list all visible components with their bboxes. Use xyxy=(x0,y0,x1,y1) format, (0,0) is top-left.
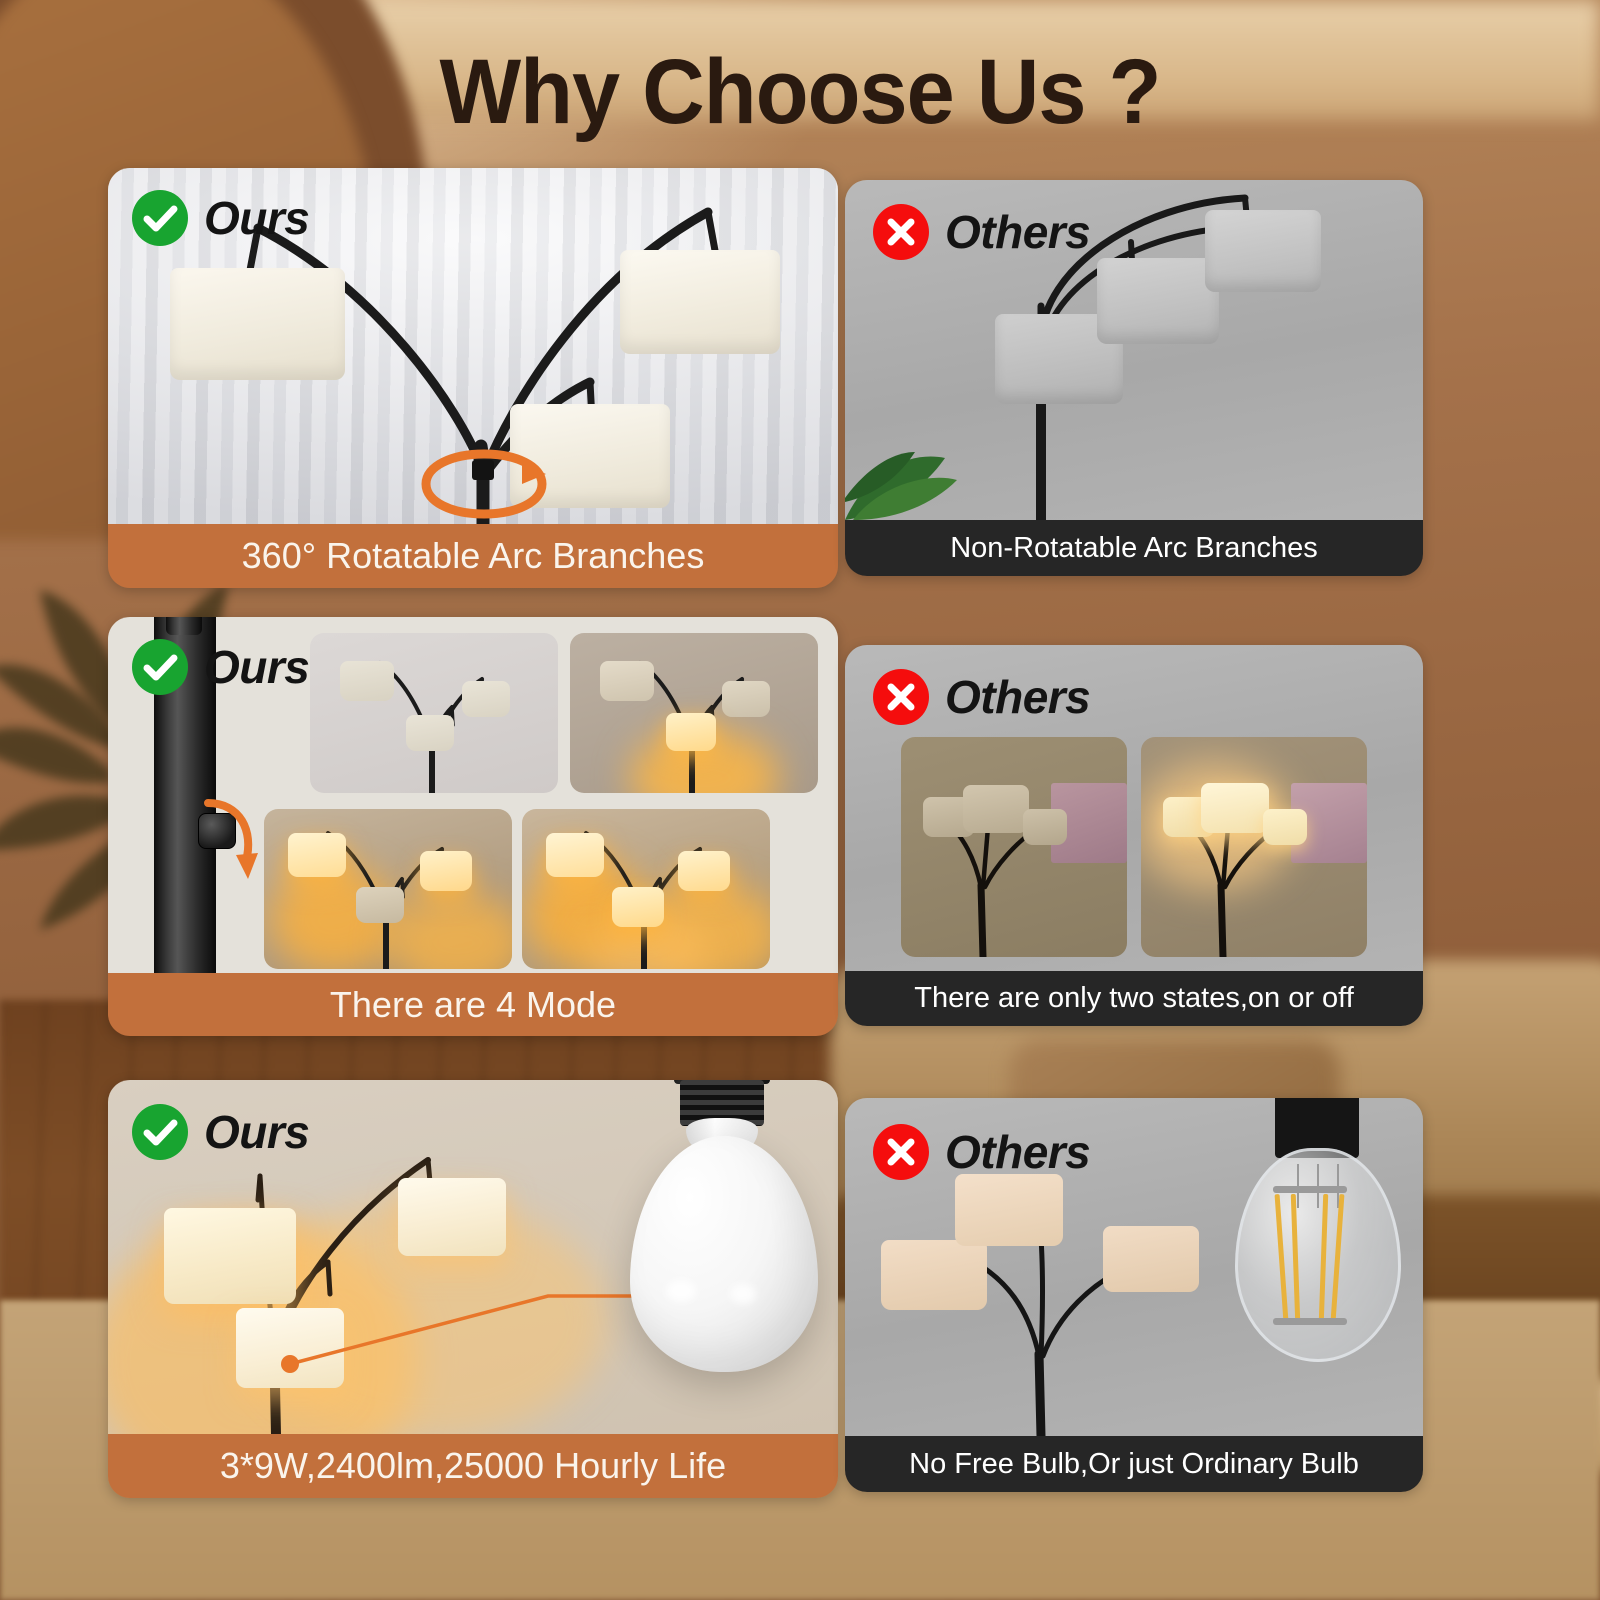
badge-label-ours: Ours xyxy=(204,640,309,694)
caption-ours-rotatable: 360° Rotatable Arc Branches xyxy=(108,524,838,588)
thumbnail-mode-three-on xyxy=(522,809,770,969)
thumbnail-mode-one-on xyxy=(570,633,818,793)
panel-others-modes: Others There are only two states,on or o… xyxy=(845,645,1423,1026)
lamp-shade-others-b-top xyxy=(955,1174,1063,1246)
caption-text: 3*9W,2400lm,25000 Hourly Life xyxy=(220,1445,726,1487)
panel-ours-rotatable: Ours 360° Rotatable Arc Branches xyxy=(108,168,838,588)
check-circle-icon xyxy=(132,1104,188,1160)
badge-label-ours: Ours xyxy=(204,1105,309,1159)
lamp-shade-others-b-left xyxy=(881,1240,987,1310)
lamp-shade-others-b-right xyxy=(1103,1226,1199,1292)
x-circle-icon xyxy=(873,1124,929,1180)
caption-text: There are 4 Mode xyxy=(330,984,616,1026)
thumbnail-mode-all-off xyxy=(310,633,558,793)
badge-label-others: Others xyxy=(945,670,1090,724)
thumbnail-mode-two-on xyxy=(264,809,512,969)
caption-text: 360° Rotatable Arc Branches xyxy=(242,535,705,577)
panel-others-rotatable: Others Non-Rotatable Arc Branches xyxy=(845,180,1423,576)
badge-ours-rotatable: Ours xyxy=(132,190,309,246)
thumbnail-state-on xyxy=(1141,737,1367,957)
check-circle-icon xyxy=(132,639,188,695)
panel-others-bulb: Others No Free Bulb,Or just Ordinary Bul… xyxy=(845,1098,1423,1492)
badge-label-others: Others xyxy=(945,205,1090,259)
badge-others-bulb: Others xyxy=(873,1124,1090,1180)
badge-ours-bulb: Ours xyxy=(132,1104,309,1160)
badge-label-others: Others xyxy=(945,1125,1090,1179)
caption-ours-bulb: 3*9W,2400lm,25000 Hourly Life xyxy=(108,1434,838,1498)
badge-others-rotatable: Others xyxy=(873,204,1090,260)
x-circle-icon xyxy=(873,669,929,725)
caption-ours-modes: There are 4 Mode xyxy=(108,973,838,1036)
comparison-grid: Ours 360° Rotatable Arc Branches xyxy=(0,0,1600,1600)
clear-filament-bulb xyxy=(1211,1098,1423,1436)
badge-label-ours: Ours xyxy=(204,191,309,245)
x-circle-icon xyxy=(873,204,929,260)
caption-others-bulb: No Free Bulb,Or just Ordinary Bulb xyxy=(845,1436,1423,1492)
caption-text: There are only two states,on or off xyxy=(914,982,1354,1015)
caption-others-modes: There are only two states,on or off xyxy=(845,971,1423,1026)
caption-text: No Free Bulb,Or just Ordinary Bulb xyxy=(909,1448,1359,1481)
caption-text: Non-Rotatable Arc Branches xyxy=(950,532,1318,565)
badge-others-modes: Others xyxy=(873,669,1090,725)
caption-others-rotatable: Non-Rotatable Arc Branches xyxy=(845,520,1423,576)
thumbnail-state-off xyxy=(901,737,1127,957)
check-circle-icon xyxy=(132,190,188,246)
badge-ours-modes: Ours xyxy=(132,639,309,695)
panel-ours-bulb: Ours 3*9W,2400lm,25000 Hourly Life xyxy=(108,1080,838,1498)
panel-ours-modes: Ours There are 4 Mode xyxy=(108,617,838,1036)
frosted-led-bulb xyxy=(588,1080,838,1434)
